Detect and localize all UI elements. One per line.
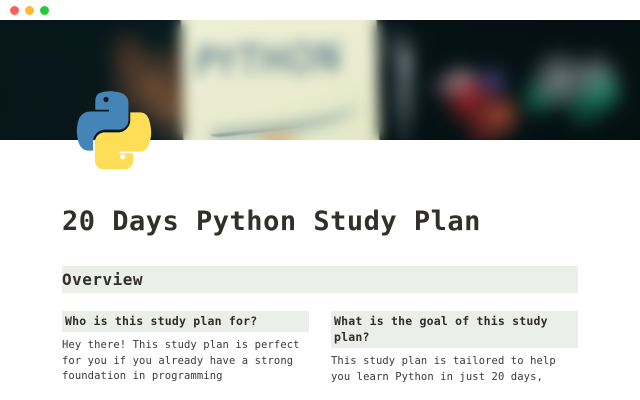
column-goal: What is the goal of this study plan? Thi… xyxy=(331,311,578,385)
section-header-overview: Overview xyxy=(62,266,578,293)
minimize-button[interactable] xyxy=(25,6,34,15)
section-header-label: Overview xyxy=(62,270,143,289)
column-heading: What is the goal of this study plan? xyxy=(331,311,578,348)
column-audience: Who is this study plan for? Hey there! T… xyxy=(62,311,309,385)
document-body: 20 Days Python Study Plan Overview Who i… xyxy=(0,140,640,400)
page-title: 20 Days Python Study Plan xyxy=(62,206,481,237)
column-body-text: This study plan is tailored to help you … xyxy=(331,354,578,385)
column-heading: Who is this study plan for? xyxy=(62,311,309,332)
column-body-text: Hey there! This study plan is perfect fo… xyxy=(62,338,309,385)
app-window: PYTHON 20 Days Python Study Plan Overvie… xyxy=(0,0,640,400)
overview-columns: Who is this study plan for? Hey there! T… xyxy=(62,311,578,385)
close-button[interactable] xyxy=(10,6,19,15)
python-logo-icon xyxy=(72,85,156,169)
window-titlebar xyxy=(0,0,640,20)
maximize-button[interactable] xyxy=(40,6,49,15)
traffic-light-group xyxy=(10,6,49,15)
